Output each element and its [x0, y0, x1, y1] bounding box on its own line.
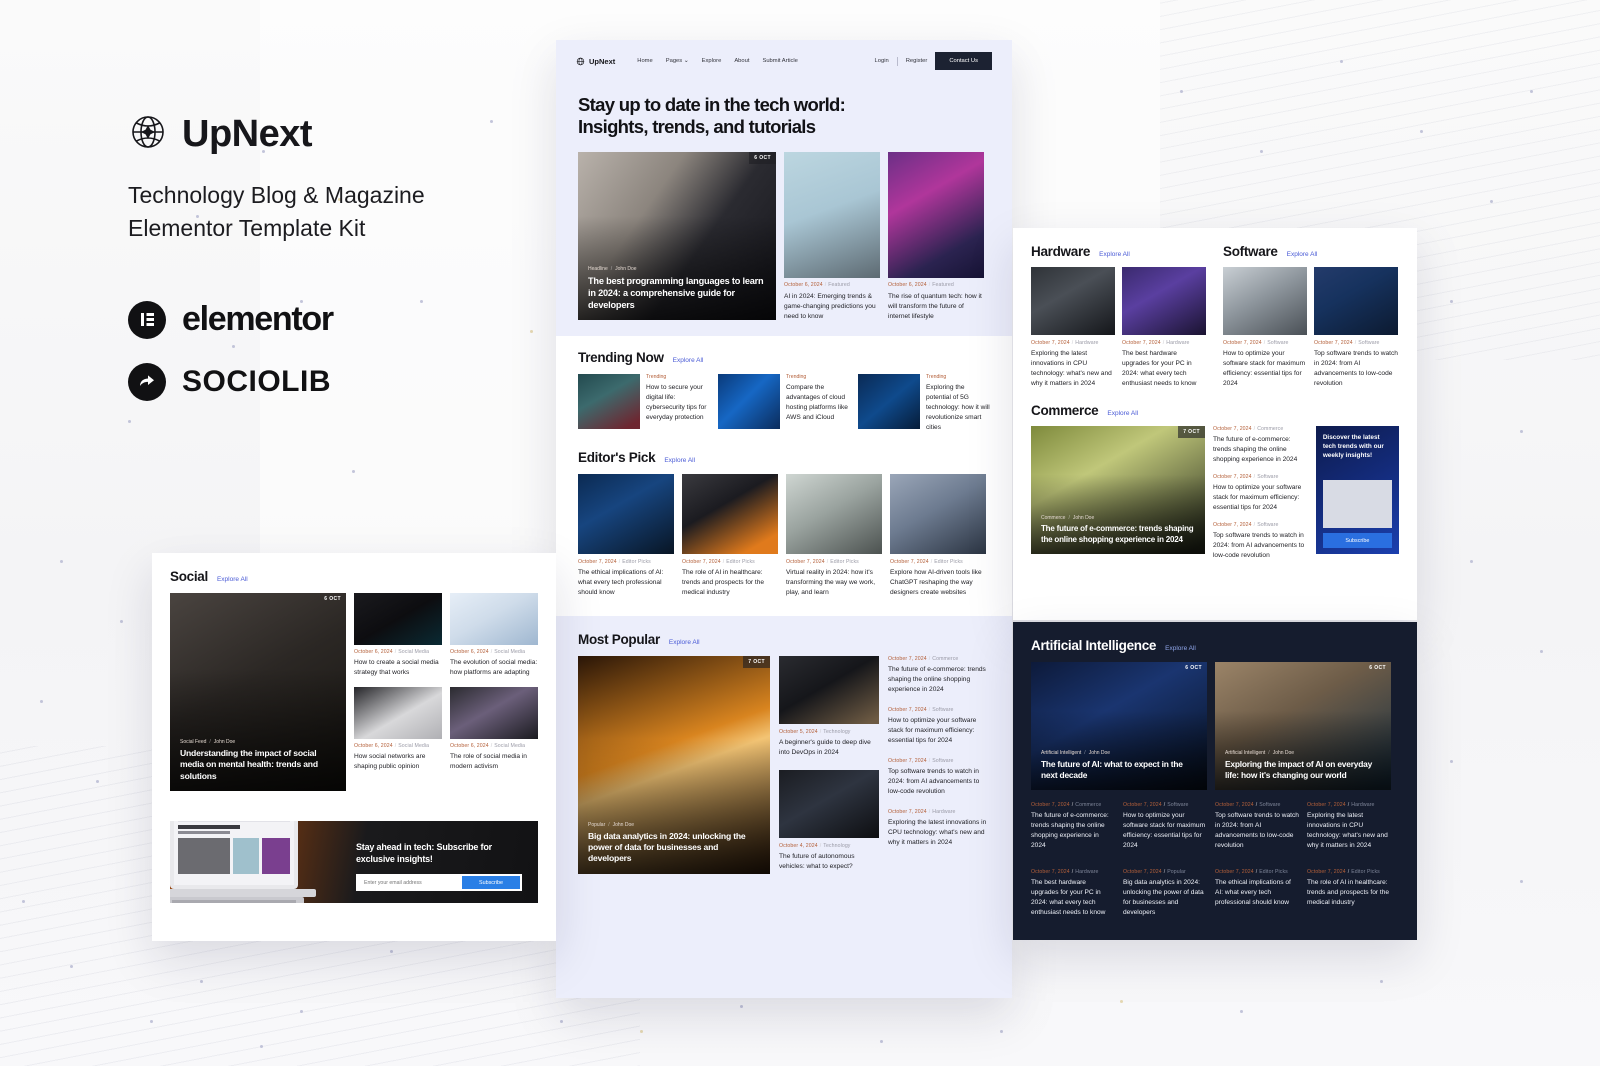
- editors-pick-section-header: Editor's Pick Explore All: [578, 450, 990, 465]
- nav-link-home[interactable]: Home: [637, 58, 652, 64]
- article-title: How to optimize your software stack for …: [1223, 349, 1307, 389]
- article-list-item[interactable]: October 7, 2024/Hardware Exploring the l…: [888, 809, 988, 848]
- explore-all-link[interactable]: Explore All: [673, 357, 704, 364]
- section-title: Commerce: [1031, 403, 1098, 418]
- article-thumbnail: [779, 656, 879, 724]
- nav-link-pages[interactable]: Pages ⌄: [666, 58, 689, 64]
- article-meta: October 7, 2024/Editor Picks: [786, 559, 882, 565]
- globe-icon: [128, 112, 168, 157]
- site-navbar: UpNext Home Pages ⌄ Explore About Submit…: [556, 40, 1012, 82]
- article-meta: October 7, 2024/Popular: [1123, 869, 1207, 875]
- background-dot: [880, 1040, 883, 1043]
- article-list-item[interactable]: October 7, 2024/Software How to optimize…: [1123, 802, 1207, 851]
- editors-pick-item[interactable]: October 7, 2024/Editor Picks The ethical…: [578, 474, 674, 598]
- article-category: Trending: [646, 374, 710, 380]
- article-card[interactable]: October 5, 2024/Technology A beginner's …: [779, 656, 879, 758]
- article-meta: October 6, 2024/Featured: [784, 282, 880, 288]
- article-card[interactable]: October 6, 2024/Social Media How to crea…: [354, 593, 442, 678]
- background-dot: [1530, 90, 1533, 93]
- section-title: Hardware: [1031, 244, 1090, 259]
- article-thumbnail: [890, 474, 986, 554]
- article-meta: October 6, 2024/Featured: [888, 282, 984, 288]
- date-badge: 6 OCT: [319, 593, 346, 605]
- background-dot: [352, 470, 355, 473]
- article-meta: October 4, 2024/Technology: [779, 843, 879, 849]
- branding-block: UpNext Technology Blog & Magazine Elemen…: [128, 112, 548, 401]
- section-title: Editor's Pick: [578, 450, 655, 465]
- article-title: The best hardware upgrades for your PC i…: [1031, 878, 1115, 918]
- article-thumbnail: [1314, 267, 1398, 335]
- hero-title-line2: Insights, trends, and tutorials: [578, 116, 990, 138]
- explore-all-link[interactable]: Explore All: [669, 639, 700, 646]
- article-title: Top software trends to watch in 2024: fr…: [1215, 811, 1299, 851]
- background-dot: [1470, 560, 1473, 563]
- most-popular-featured-text: Popular/John Doe Big data analytics in 2…: [588, 822, 760, 865]
- brand-name: UpNext: [182, 113, 312, 156]
- background-dot: [1340, 60, 1343, 63]
- background-dot: [1490, 200, 1493, 203]
- background-dot: [1540, 650, 1543, 653]
- trending-item[interactable]: Trending Compare the advantages of cloud…: [718, 374, 850, 433]
- article-meta: October 7, 2024/Hardware: [1307, 802, 1391, 808]
- article-list-item[interactable]: October 7, 2024/Software Top software tr…: [888, 758, 988, 797]
- promo-content: Stay ahead in tech: Subscribe for exclus…: [356, 841, 522, 891]
- social-featured-text: Social Feed/John Doe Understanding the i…: [180, 739, 336, 782]
- background-dot: [70, 965, 73, 968]
- hero-side-card-2[interactable]: October 6, 2024/Featured The rise of qua…: [888, 152, 984, 322]
- elementor-label: elementor: [182, 300, 333, 339]
- article-thumbnail: [578, 474, 674, 554]
- editors-pick-item[interactable]: October 7, 2024/Editor Picks Virtual rea…: [786, 474, 882, 598]
- article-title: Exploring the latest innovations in CPU …: [888, 818, 988, 848]
- article-list-item[interactable]: October 7, 2024/Popular Big data analyti…: [1123, 869, 1207, 918]
- partner-elementor: elementor: [128, 300, 548, 339]
- newsletter-promo-banner: Stay ahead in tech: Subscribe for exclus…: [170, 821, 538, 903]
- subscribe-card-preview-image: [1323, 480, 1392, 528]
- article-title: The role of social media in modern activ…: [450, 752, 538, 772]
- article-title: Exploring the latest innovations in CPU …: [1307, 811, 1391, 851]
- ai-article-list: October 7, 2024/Commerce The future of e…: [1031, 802, 1399, 928]
- article-title: Top software trends to watch in 2024: fr…: [1213, 531, 1308, 561]
- laptop-illustration: [170, 821, 338, 903]
- categories-preview-panel: Hardware Explore All October 7, 2024/Har…: [1013, 228, 1417, 620]
- main-site-preview-panel: UpNext Home Pages ⌄ Explore About Submit…: [556, 40, 1012, 998]
- article-list-item[interactable]: October 7, 2024/Hardware The best hardwa…: [1031, 869, 1115, 918]
- article-card[interactable]: October 6, 2024/Social Media How social …: [354, 687, 442, 772]
- ai-cards-grid: 6 OCT Artificial Intelligent/John Doe Th…: [1031, 662, 1399, 790]
- article-meta: Artificial Intelligent/John Doe: [1225, 750, 1381, 756]
- commerce-grid: 7 OCT Commerce/John Doe The future of e-…: [1031, 426, 1399, 570]
- article-title: Virtual reality in 2024: how it's transf…: [786, 568, 882, 598]
- editors-pick-item[interactable]: October 7, 2024/Editor Picks Explore how…: [890, 474, 986, 598]
- social-preview-panel: Social Explore All 6 OCT Social Feed/Joh…: [152, 553, 556, 941]
- background-dot: [300, 1010, 303, 1013]
- sociolib-label: SOCIOLIB: [182, 365, 331, 399]
- article-meta: October 7, 2024/Hardware: [1031, 869, 1115, 875]
- ai-featured-text: Artificial Intelligent/John Doe The futu…: [1041, 750, 1197, 781]
- commerce-section: Commerce Explore All 7 OCT Commerce/John…: [1031, 403, 1399, 570]
- article-card[interactable]: October 7, 2024/Software Top software tr…: [1314, 267, 1398, 389]
- article-meta: October 7, 2024/Hardware: [888, 809, 988, 815]
- hardware-header: Hardware Explore All: [1031, 244, 1207, 259]
- section-title: Social: [170, 569, 208, 584]
- background-dot: [260, 1045, 263, 1048]
- explore-all-link[interactable]: Explore All: [1165, 645, 1196, 652]
- background-dot: [1450, 760, 1453, 763]
- hero-grid: 6 OCT Headline/John Doe The best program…: [556, 138, 1012, 322]
- article-meta: October 7, 2024/Editor Picks: [1215, 869, 1299, 875]
- background-dot: [640, 1030, 643, 1033]
- subscribe-button[interactable]: Subscribe: [462, 876, 520, 889]
- article-category: Trending: [926, 374, 990, 380]
- hero-featured-title: The best programming languages to learn …: [588, 275, 766, 311]
- subscribe-card-title: Discover the latest tech trends with our…: [1323, 434, 1392, 461]
- email-input[interactable]: [358, 876, 462, 889]
- commerce-header: Commerce Explore All: [1031, 403, 1399, 418]
- article-thumbnail: [1031, 267, 1115, 335]
- sociolib-share-icon: [128, 363, 166, 401]
- hardware-column: Hardware Explore All October 7, 2024/Har…: [1031, 244, 1207, 389]
- background-dot: [740, 1005, 743, 1008]
- article-card[interactable]: October 7, 2024/Hardware The best hardwa…: [1122, 267, 1206, 389]
- article-title: A beginner's guide to deep dive into Dev…: [779, 738, 879, 758]
- background-dot: [1260, 150, 1263, 153]
- nav-link-submit-article[interactable]: Submit Article: [762, 58, 797, 64]
- background-dot: [40, 700, 43, 703]
- article-title: Explore how AI-driven tools like ChatGPT…: [890, 568, 986, 598]
- most-popular-right-column: October 7, 2024/Commerce The future of e…: [888, 656, 988, 874]
- article-title: Exploring the latest innovations in CPU …: [1031, 349, 1115, 389]
- explore-all-link[interactable]: Explore All: [217, 576, 248, 583]
- article-meta: October 7, 2024/Hardware: [1122, 340, 1206, 346]
- most-popular-featured-card[interactable]: 7 OCT Popular/John Doe Big data analytic…: [578, 656, 770, 874]
- background-dot: [390, 950, 393, 953]
- explore-all-link[interactable]: Explore All: [664, 457, 695, 464]
- article-meta: October 7, 2024/Editor Picks: [890, 559, 986, 565]
- most-popular-middle-column: October 5, 2024/Technology A beginner's …: [779, 656, 879, 874]
- article-thumbnail: [1122, 267, 1206, 335]
- article-meta: October 6, 2024/Social Media: [354, 743, 442, 749]
- background-dot: [560, 1020, 563, 1023]
- hero-featured-card[interactable]: 6 OCT Headline/John Doe The best program…: [578, 152, 776, 320]
- article-title: AI in 2024: Emerging trends & game-chang…: [784, 292, 880, 322]
- article-list-item[interactable]: October 7, 2024/Commerce The future of e…: [1213, 426, 1308, 465]
- article-thumbnail: [718, 374, 780, 429]
- background-dot: [150, 1020, 153, 1023]
- article-title: Compare the advantages of cloud hosting …: [786, 383, 850, 423]
- social-column-1: October 6, 2024/Social Media How to crea…: [354, 593, 442, 791]
- background-dot: [22, 900, 25, 903]
- article-title: The future of e-commerce: trends shaping…: [1213, 435, 1308, 465]
- subscribe-card-button[interactable]: Subscribe: [1323, 533, 1392, 548]
- social-content: Social Explore All 6 OCT Social Feed/Joh…: [152, 553, 556, 807]
- background-dot: [1450, 300, 1453, 303]
- social-grid: 6 OCT Social Feed/John Doe Understanding…: [170, 593, 538, 791]
- background-dot: [1180, 90, 1183, 93]
- background-dot: [96, 780, 99, 783]
- ai-featured-card[interactable]: 6 OCT Artificial Intelligent/John Doe Th…: [1031, 662, 1207, 790]
- article-thumbnail: [450, 687, 538, 739]
- trending-item[interactable]: Trending Exploring the potential of 5G t…: [858, 374, 990, 433]
- article-title: The future of e-commerce: trends shaping…: [888, 665, 988, 695]
- article-meta: October 7, 2024/Editor Picks: [578, 559, 674, 565]
- article-thumbnail: [450, 593, 538, 645]
- article-meta: October 7, 2024/Commerce: [888, 656, 988, 662]
- commerce-featured-text: Commerce/John Doe The future of e-commer…: [1041, 515, 1195, 545]
- navbar-links: Home Pages ⌄ Explore About Submit Articl…: [637, 58, 798, 64]
- article-meta: October 7, 2024/Software: [1123, 802, 1207, 808]
- article-title: The rise of quantum tech: how it will tr…: [888, 292, 984, 322]
- article-meta: October 5, 2024/Technology: [779, 729, 879, 735]
- chevron-down-icon: ⌄: [684, 58, 689, 64]
- nav-divider: [897, 57, 898, 66]
- section-title: Software: [1223, 244, 1278, 259]
- background-dot: [128, 420, 131, 423]
- trending-grid: Trending How to secure your digital life…: [578, 374, 990, 433]
- article-meta: October 7, 2024/Software: [1213, 474, 1308, 480]
- hero-side-card-1[interactable]: October 6, 2024/Featured AI in 2024: Eme…: [784, 152, 880, 322]
- background-dot: [1120, 1000, 1123, 1003]
- hardware-grid: October 7, 2024/Hardware Exploring the l…: [1031, 267, 1207, 389]
- article-title: The future of e-commerce: trends shaping…: [1041, 524, 1195, 545]
- partner-sociolib: SOCIOLIB: [128, 363, 548, 401]
- ai-featured-card[interactable]: 6 OCT Artificial Intelligent/John Doe Ex…: [1215, 662, 1391, 790]
- article-title: Top software trends to watch in 2024: fr…: [1314, 349, 1398, 389]
- article-title: The future of AI: what to expect in the …: [1041, 759, 1197, 781]
- article-thumbnail: [784, 152, 880, 278]
- article-meta: October 7, 2024/Hardware: [1031, 340, 1115, 346]
- article-title: The role of AI in healthcare: trends and…: [682, 568, 778, 598]
- social-featured-card[interactable]: 6 OCT Social Feed/John Doe Understanding…: [170, 593, 346, 791]
- article-title: Big data analytics in 2024: unlocking th…: [1123, 878, 1207, 918]
- article-meta: October 7, 2024/Software: [1215, 802, 1299, 808]
- most-popular-grid: 7 OCT Popular/John Doe Big data analytic…: [578, 656, 990, 874]
- globe-icon: [576, 57, 585, 66]
- article-list-item[interactable]: October 7, 2024/Software How to optimize…: [888, 707, 988, 746]
- ai-content: Artificial Intelligence Explore All 6 OC…: [1013, 622, 1417, 940]
- article-list-item[interactable]: October 7, 2024/Software Top software tr…: [1213, 522, 1308, 561]
- navbar-logo-text: UpNext: [589, 57, 615, 66]
- brand-subtitle: Technology Blog & Magazine Elementor Tem…: [128, 179, 548, 244]
- hero-title-line1: Stay up to date in the tech world:: [578, 94, 990, 116]
- promo-title: Stay ahead in tech: Subscribe for exclus…: [356, 841, 522, 865]
- article-list-item[interactable]: October 7, 2024/Commerce The future of e…: [1031, 802, 1115, 851]
- date-badge: 7 OCT: [1178, 426, 1205, 438]
- categories-content: Hardware Explore All October 7, 2024/Har…: [1013, 228, 1417, 586]
- commerce-list: October 7, 2024/Commerce The future of e…: [1213, 426, 1308, 570]
- date-badge: 6 OCT: [749, 152, 776, 164]
- article-meta: Popular/John Doe: [588, 822, 760, 828]
- article-thumbnail: [779, 770, 879, 838]
- article-list-item[interactable]: October 7, 2024/Software How to optimize…: [1213, 474, 1308, 513]
- login-link[interactable]: Login: [875, 58, 889, 64]
- article-thumbnail: [578, 374, 640, 429]
- editors-pick-grid: October 7, 2024/Editor Picks The ethical…: [578, 474, 990, 598]
- nav-link-about[interactable]: About: [734, 58, 749, 64]
- article-meta: October 7, 2024/Software: [888, 707, 988, 713]
- social-column-2: October 6, 2024/Social Media The evoluti…: [450, 593, 538, 791]
- section-title: Most Popular: [578, 632, 660, 647]
- article-thumbnail: [354, 687, 442, 739]
- article-title: The role of AI in healthcare: trends and…: [1307, 878, 1391, 908]
- most-popular-section: Most Popular Explore All 7 OCT Popular/J…: [556, 616, 1012, 874]
- article-title: How to optimize your software stack for …: [1213, 483, 1308, 513]
- elementor-icon: [128, 301, 166, 339]
- article-meta: October 7, 2024/Editor Picks: [682, 559, 778, 565]
- article-title: Big data analytics in 2024: unlocking th…: [588, 831, 760, 865]
- article-card[interactable]: October 7, 2024/Software How to optimize…: [1223, 267, 1307, 389]
- article-title: Understanding the impact of social media…: [180, 748, 336, 782]
- editors-pick-item[interactable]: October 7, 2024/Editor Picks The role of…: [682, 474, 778, 598]
- explore-all-link[interactable]: Explore All: [1287, 251, 1318, 258]
- article-meta: October 6, 2024/Social Media: [450, 743, 538, 749]
- article-title: Exploring the potential of 5G technology…: [926, 383, 990, 433]
- hardware-software-columns: Hardware Explore All October 7, 2024/Har…: [1031, 244, 1399, 389]
- navbar-actions: Login Register Contact Us: [875, 52, 992, 70]
- trending-item[interactable]: Trending How to secure your digital life…: [578, 374, 710, 433]
- ai-featured-text: Artificial Intelligent/John Doe Explorin…: [1225, 750, 1381, 781]
- article-list-item[interactable]: October 7, 2024/Software Top software tr…: [1215, 802, 1299, 851]
- background-dot: [1000, 1030, 1003, 1033]
- article-meta: October 7, 2024/Editor Picks: [1307, 869, 1391, 875]
- subscribe-card: Discover the latest tech trends with our…: [1316, 426, 1399, 554]
- navbar-logo[interactable]: UpNext: [576, 57, 615, 66]
- site-content-block: Trending Now Explore All Trending How to…: [556, 336, 1012, 615]
- article-title: Top software trends to watch in 2024: fr…: [888, 767, 988, 797]
- software-grid: October 7, 2024/Software How to optimize…: [1223, 267, 1399, 389]
- article-list-item[interactable]: October 7, 2024/Hardware Exploring the l…: [1307, 802, 1391, 851]
- article-meta: October 6, 2024/Social Media: [450, 649, 538, 655]
- article-meta: October 7, 2024/Software: [1213, 522, 1308, 528]
- article-meta: Social Feed/John Doe: [180, 739, 336, 745]
- ai-preview-panel: Artificial Intelligence Explore All 6 OC…: [1013, 622, 1417, 940]
- article-card[interactable]: October 6, 2024/Social Media The evoluti…: [450, 593, 538, 678]
- article-meta: October 7, 2024/Software: [1223, 340, 1307, 346]
- article-card[interactable]: October 6, 2024/Social Media The role of…: [450, 687, 538, 772]
- article-title: The future of autonomous vehicles: what …: [779, 852, 879, 872]
- brand-subtitle-line1: Technology Blog & Magazine: [128, 179, 548, 212]
- article-title: How to secure your digital life: cyberse…: [646, 383, 710, 423]
- background-dot: [1240, 1010, 1243, 1013]
- article-title: The ethical implications of AI: what eve…: [1215, 878, 1299, 908]
- article-title: Exploring the impact of AI on everyday l…: [1225, 759, 1381, 781]
- article-thumbnail: [682, 474, 778, 554]
- explore-all-link[interactable]: Explore All: [1099, 251, 1130, 258]
- article-thumbnail: [888, 152, 984, 278]
- background-dot: [1520, 880, 1523, 883]
- article-list-item[interactable]: October 7, 2024/Editor Picks The ethical…: [1215, 869, 1299, 918]
- brand-subtitle-line2: Elementor Template Kit: [128, 212, 548, 245]
- article-thumbnail: [1223, 267, 1307, 335]
- article-title: How to optimize your software stack for …: [1123, 811, 1207, 851]
- software-column: Software Explore All October 7, 2024/Sof…: [1223, 244, 1399, 389]
- article-title: How to create a social media strategy th…: [354, 658, 442, 678]
- date-badge: 6 OCT: [1364, 662, 1391, 674]
- social-header: Social Explore All: [170, 569, 538, 584]
- nav-link-explore[interactable]: Explore: [702, 58, 722, 64]
- article-meta: Commerce/John Doe: [1041, 515, 1195, 521]
- ai-header: Artificial Intelligence Explore All: [1031, 638, 1399, 653]
- trending-section-header: Trending Now Explore All: [578, 350, 990, 365]
- contact-us-button[interactable]: Contact Us: [935, 52, 992, 70]
- hero-featured-meta: Headline/John Doe: [588, 266, 766, 272]
- article-card[interactable]: October 7, 2024/Hardware Exploring the l…: [1031, 267, 1115, 389]
- background-dot: [1380, 980, 1383, 983]
- register-link[interactable]: Register: [906, 58, 928, 64]
- article-list-item[interactable]: October 7, 2024/Editor Picks The role of…: [1307, 869, 1391, 918]
- article-title: The future of e-commerce: trends shaping…: [1031, 811, 1115, 851]
- commerce-featured-card[interactable]: 7 OCT Commerce/John Doe The future of e-…: [1031, 426, 1205, 554]
- article-thumbnail: [786, 474, 882, 554]
- date-badge: 7 OCT: [743, 656, 770, 668]
- article-thumbnail: [858, 374, 920, 429]
- article-title: The best hardware upgrades for your PC i…: [1122, 349, 1206, 389]
- article-category: Trending: [786, 374, 850, 380]
- article-meta: October 6, 2024/Social Media: [354, 649, 442, 655]
- article-meta: October 7, 2024/Commerce: [1031, 802, 1115, 808]
- article-meta: October 7, 2024/Software: [1314, 340, 1398, 346]
- explore-all-link[interactable]: Explore All: [1107, 410, 1138, 417]
- software-header: Software Explore All: [1223, 244, 1399, 259]
- background-dot: [60, 560, 63, 563]
- most-popular-header: Most Popular Explore All: [578, 632, 990, 647]
- background-dot: [120, 620, 123, 623]
- hero-title: Stay up to date in the tech world: Insig…: [556, 82, 1012, 138]
- hero-featured-text: Headline/John Doe The best programming l…: [588, 266, 766, 311]
- article-list-item[interactable]: October 7, 2024/Commerce The future of e…: [888, 656, 988, 695]
- article-title: How social networks are shaping public o…: [354, 752, 442, 772]
- background-dot: [200, 980, 203, 983]
- article-title: The evolution of social media: how platf…: [450, 658, 538, 678]
- article-meta: October 7, 2024/Software: [888, 758, 988, 764]
- article-meta: Artificial Intelligent/John Doe: [1041, 750, 1197, 756]
- article-title: How to optimize your software stack for …: [888, 716, 988, 746]
- article-card[interactable]: October 4, 2024/Technology The future of…: [779, 770, 879, 872]
- date-badge: 6 OCT: [1180, 662, 1207, 674]
- newsletter-form: Subscribe: [356, 874, 522, 891]
- background-dot: [1520, 430, 1523, 433]
- section-title: Artificial Intelligence: [1031, 638, 1156, 653]
- brand-logo-row: UpNext: [128, 112, 548, 157]
- article-meta: October 7, 2024/Commerce: [1213, 426, 1308, 432]
- article-title: The ethical implications of AI: what eve…: [578, 568, 674, 598]
- article-thumbnail: [354, 593, 442, 645]
- background-dot: [1420, 130, 1423, 133]
- section-title: Trending Now: [578, 350, 664, 365]
